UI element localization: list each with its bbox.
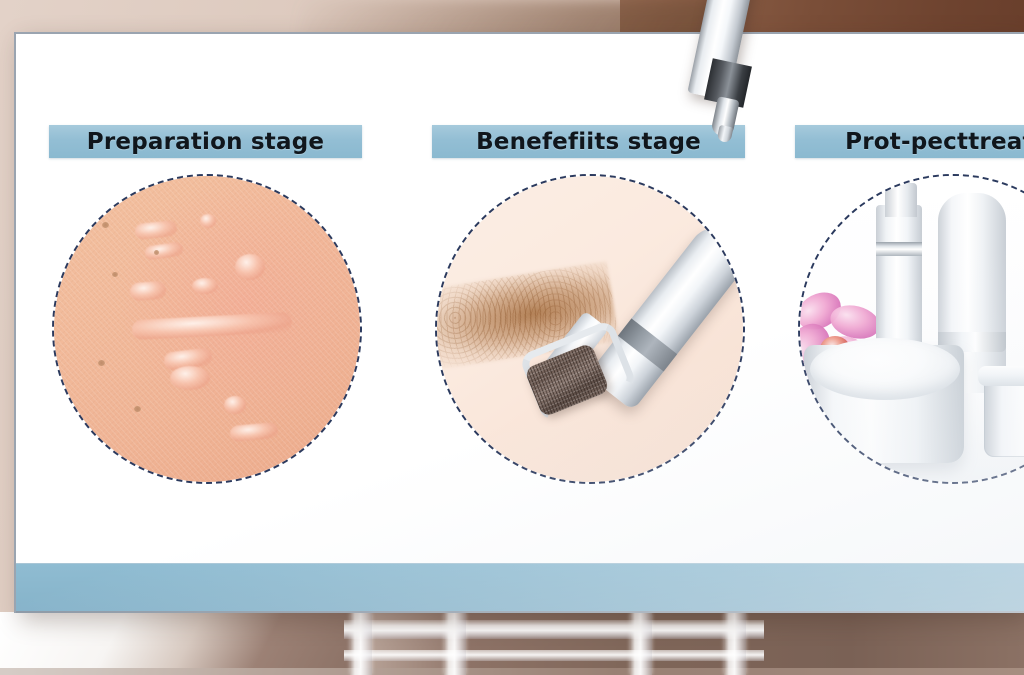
easel-leg [444, 612, 466, 675]
table-highlight [0, 612, 360, 675]
panel-row: Preparation stage [16, 34, 1024, 565]
easel-rail-upper [344, 620, 764, 639]
easel-leg [724, 612, 746, 675]
skin-mole [98, 360, 105, 366]
acrylic-easel-stand [344, 612, 764, 675]
panel-label-preparation: Preparation stage [49, 121, 362, 163]
skin-mole [134, 406, 141, 412]
skin-welt [200, 214, 216, 228]
skin-welt [235, 254, 265, 280]
skin-welt [192, 278, 218, 294]
skin-welt [129, 281, 166, 301]
panel-preparation-stage[interactable]: Preparation stage [49, 34, 396, 565]
panel-label-post-treatment: Prot-pecttreatm [795, 121, 1024, 163]
skin-mole [154, 250, 159, 255]
panel-label-benefits: Benefefiits stage [432, 121, 745, 163]
circle-image-skincare-products [798, 174, 1024, 484]
presentation-board: Preparation stage [14, 32, 1024, 613]
pump-bottle-cap [885, 183, 917, 217]
small-jar-lid [978, 366, 1024, 386]
skin-welt [170, 366, 210, 390]
circle-image-dermaroller [435, 174, 745, 484]
circle-image-irritated-skin [52, 174, 362, 484]
board-footer-bar [16, 563, 1024, 613]
skin-mole [102, 222, 109, 228]
pump-bottle-ring [876, 242, 922, 256]
infographic-scene: Preparation stage [0, 0, 1024, 675]
skin-mole [112, 272, 118, 277]
panel-post-treatment-stage[interactable]: Prot-pecttreatm [795, 34, 1024, 565]
skin-welt [224, 396, 246, 414]
easel-rail-lower [344, 650, 764, 661]
small-cream-jar [984, 379, 1024, 457]
easel-leg [630, 612, 652, 675]
easel-leg [350, 612, 372, 675]
